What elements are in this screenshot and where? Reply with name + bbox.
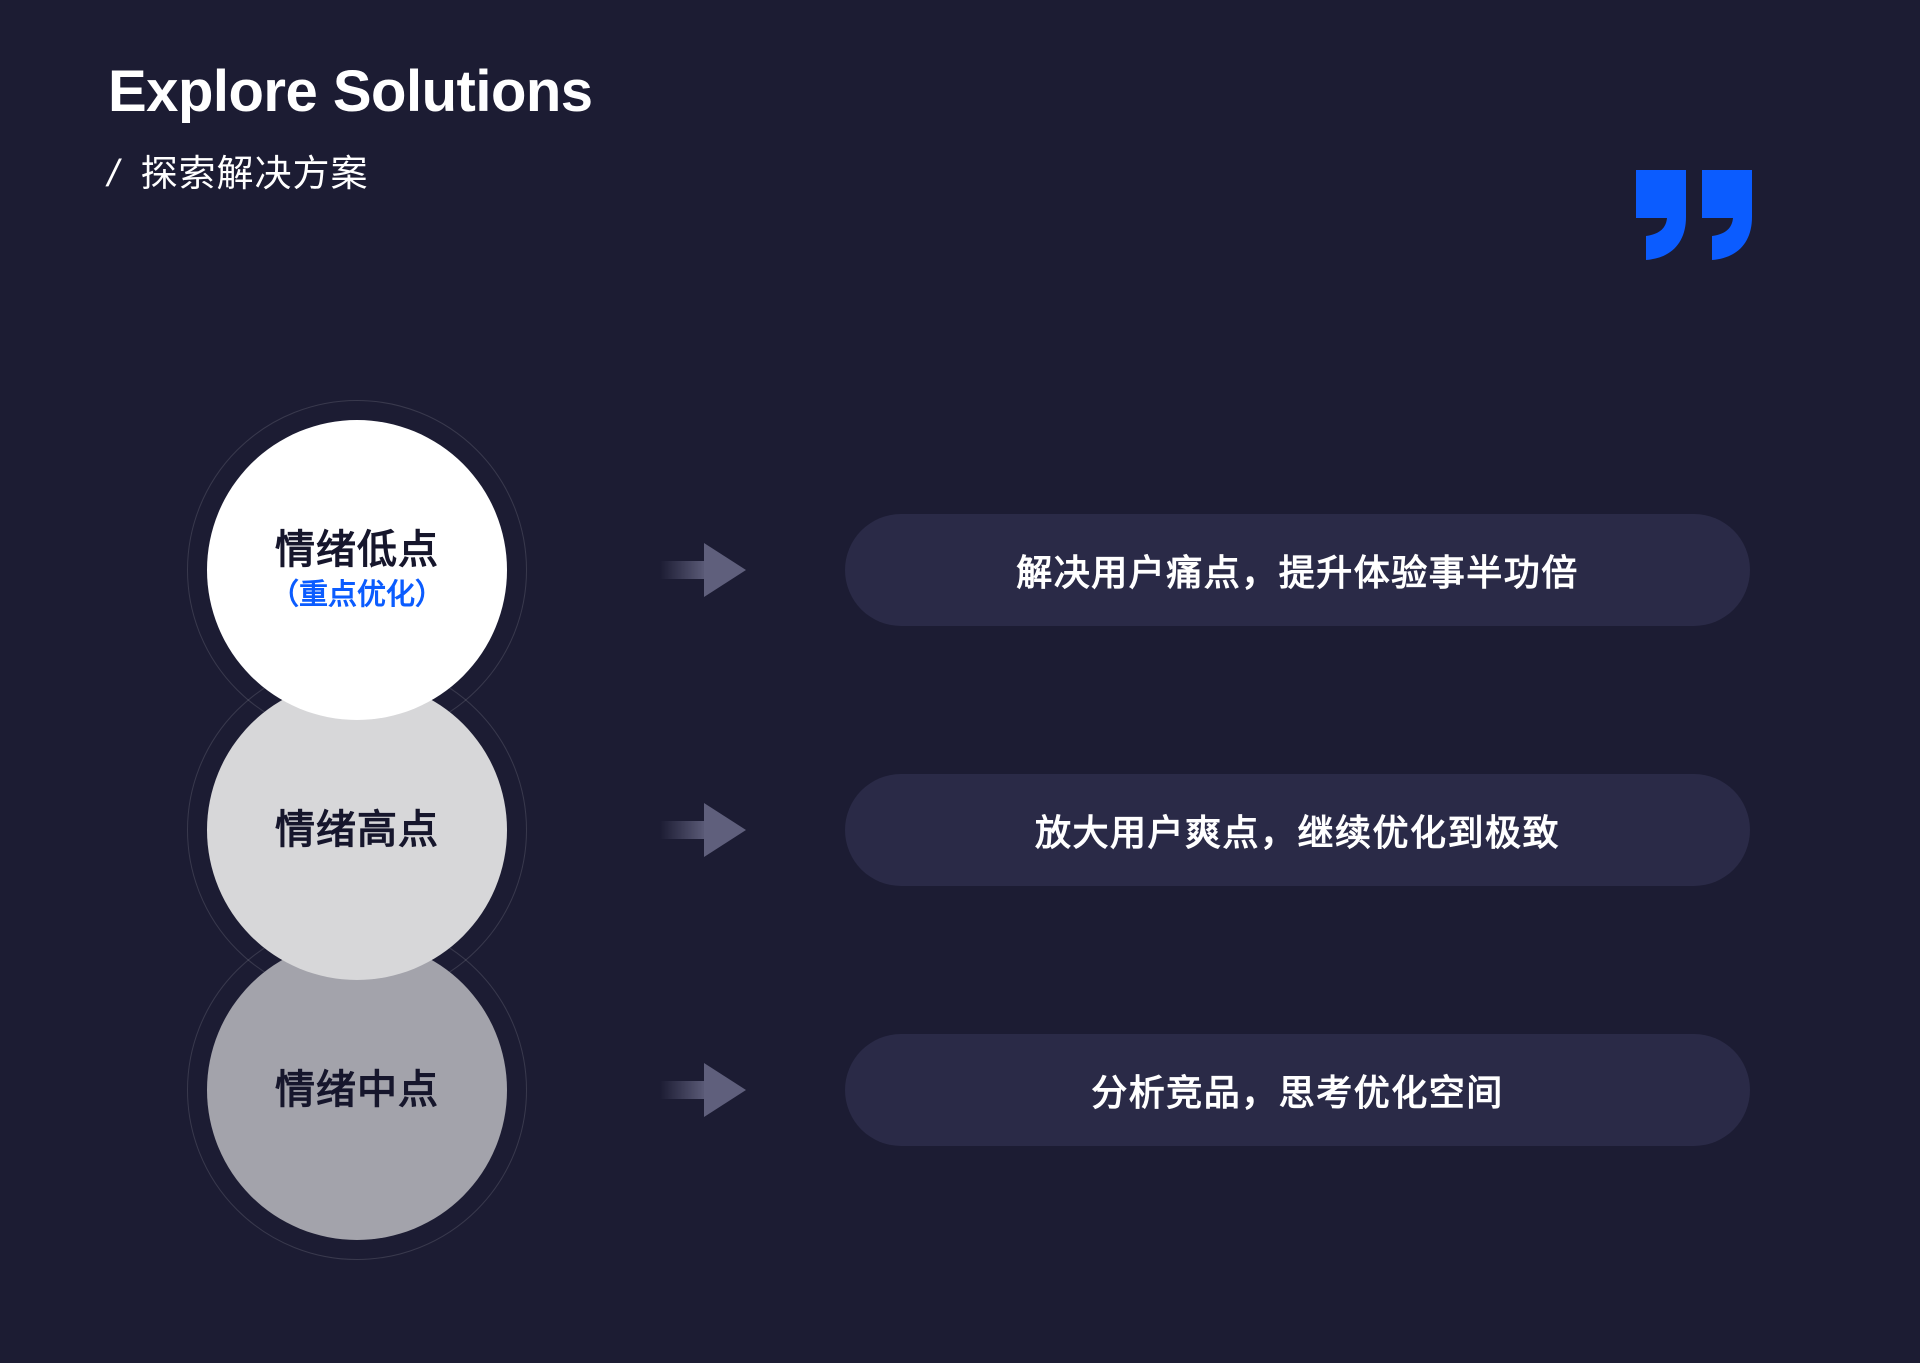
solution-pill-text-3: 分析竞品，思考优化空间 [1091, 1064, 1504, 1116]
solution-pill-text-1: 解决用户痛点，提升体验事半功倍 [1016, 544, 1579, 596]
arrow-right-icon-1 [660, 541, 750, 599]
arrow-right-icon-3 [660, 1061, 750, 1119]
solution-pill-2[interactable]: 放大用户爽点，继续优化到极致 [845, 774, 1750, 886]
node-circle-3[interactable]: 情绪中点 [207, 940, 507, 1240]
node-label-1: 情绪低点 [275, 527, 439, 573]
solution-pill-1[interactable]: 解决用户痛点，提升体验事半功倍 [845, 514, 1750, 626]
node-label-2: 情绪高点 [275, 807, 439, 853]
node-circle-1[interactable]: 情绪低点 （重点优化） [207, 420, 507, 720]
node-sublabel-1: （重点优化） [270, 579, 444, 612]
node-label-3: 情绪中点 [275, 1067, 439, 1113]
arrow-right-icon-2 [660, 801, 750, 859]
solution-pill-3[interactable]: 分析竞品，思考优化空间 [845, 1034, 1750, 1146]
solution-pill-text-2: 放大用户爽点，继续优化到极致 [1035, 804, 1560, 856]
node-circle-2[interactable]: 情绪高点 [207, 680, 507, 980]
solutions-diagram: 情绪中点 情绪高点 情绪低点 （重点优化） [0, 0, 1920, 1363]
